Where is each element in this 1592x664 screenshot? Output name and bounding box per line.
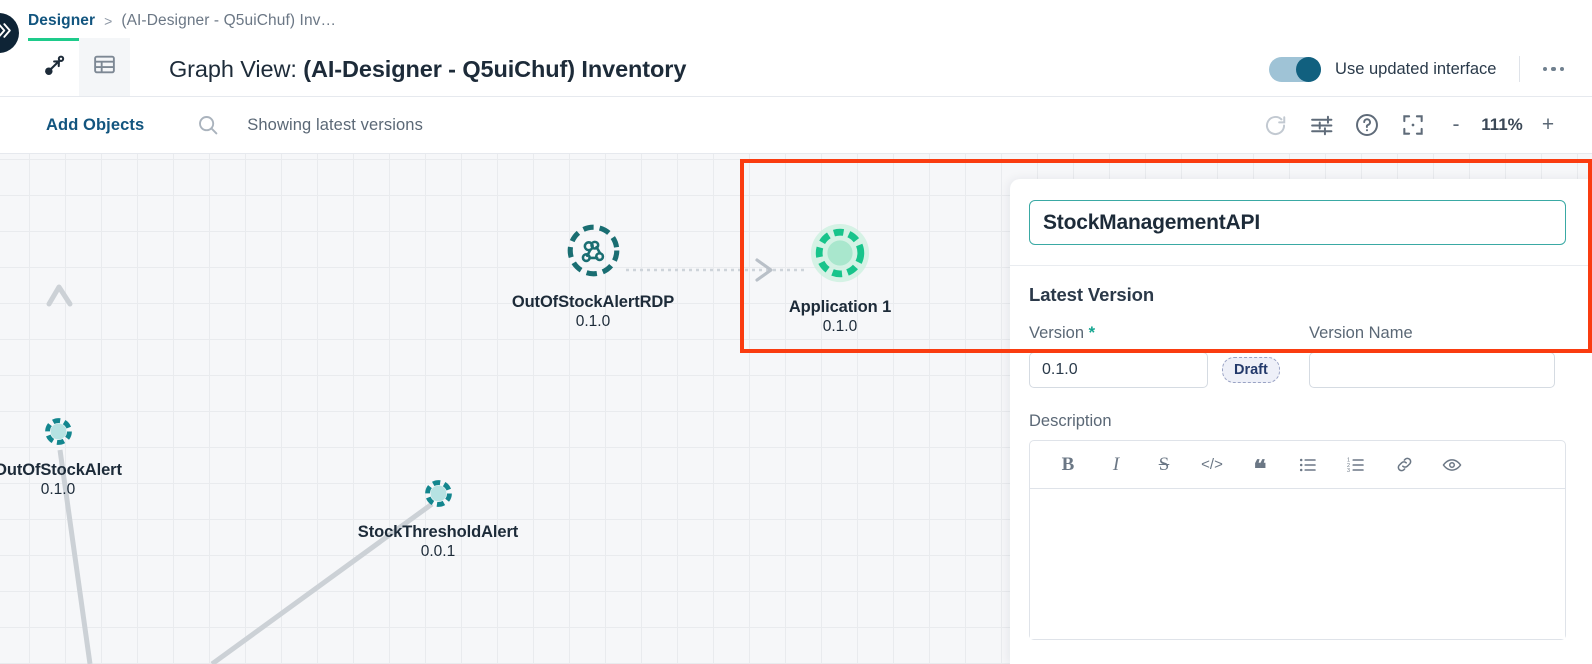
zoom-level-value: 111%	[1476, 115, 1528, 135]
showing-versions-label: Showing latest versions	[247, 116, 423, 135]
page-title: Graph View: (AI-Designer - Q5uiChuf) Inv…	[169, 56, 686, 96]
italic-icon[interactable]: I	[1092, 445, 1140, 485]
webhook-dashed-icon	[565, 222, 622, 284]
status-badge: Draft	[1222, 357, 1280, 383]
breadcrumb-root-link[interactable]: Designer	[28, 12, 95, 30]
page-title-prefix: Graph View:	[169, 56, 297, 82]
panel-header	[1010, 179, 1592, 266]
view-tabs	[28, 38, 130, 96]
node-version: 0.1.0	[41, 481, 75, 499]
tab-table-view[interactable]	[79, 38, 130, 96]
description-label: Description	[1029, 412, 1566, 431]
version-input[interactable]	[1029, 352, 1208, 388]
double-chevron-right-icon	[0, 21, 13, 45]
preview-eye-icon[interactable]	[1428, 445, 1476, 485]
application-node-icon	[809, 222, 871, 289]
canvas-toolbar: Add Objects Showing latest versions	[0, 97, 1592, 154]
node-version: 0.0.1	[421, 543, 455, 561]
use-updated-interface-toggle[interactable]	[1269, 57, 1321, 82]
zoom-out-button[interactable]: -	[1436, 107, 1476, 143]
link-icon[interactable]	[1380, 445, 1428, 485]
node-version: 0.1.0	[823, 318, 857, 336]
header-divider	[1519, 56, 1520, 82]
version-fields-row: Version * Draft Version Name	[1029, 324, 1566, 388]
use-updated-interface-label: Use updated interface	[1335, 60, 1496, 79]
panel-body: Latest Version Version * Draft Version N…	[1010, 266, 1592, 640]
version-input-row: Draft	[1029, 352, 1291, 388]
version-field-group: Version * Draft	[1029, 324, 1291, 388]
blockquote-icon[interactable]: ❝	[1236, 445, 1284, 485]
page-title-main: (AI-Designer - Q5uiChuf) Inventory	[303, 56, 686, 82]
description-editor-toolbar: B I S </> ❝ 1 2	[1030, 441, 1565, 489]
fit-to-screen-icon[interactable]	[1390, 107, 1436, 143]
version-label: Version *	[1029, 324, 1291, 343]
help-icon[interactable]	[1344, 107, 1390, 143]
svg-text:3: 3	[1347, 468, 1350, 474]
bold-icon[interactable]: B	[1044, 445, 1092, 485]
node-label: OutOfStockAlert	[0, 461, 122, 480]
graph-node-outofstockalert[interactable]: OutOfStockAlert 0.1.0	[0, 416, 120, 499]
search-icon[interactable]	[196, 113, 220, 137]
description-editor: B I S </> ❝ 1 2	[1029, 440, 1566, 640]
node-label: Application 1	[789, 298, 891, 317]
more-options-button[interactable]	[1541, 61, 1567, 78]
latest-version-heading: Latest Version	[1029, 284, 1566, 306]
alert-node-icon	[43, 416, 74, 452]
toolbar-right-controls: - 111% +	[1252, 107, 1592, 143]
app-header: Graph View: (AI-Designer - Q5uiChuf) Inv…	[0, 38, 1592, 97]
header-actions: Use updated interface	[1269, 56, 1592, 96]
breadcrumb-current[interactable]: (AI-Designer - Q5uiChuf) Inv…	[121, 12, 336, 30]
numbered-list-icon[interactable]: 1 2 3	[1332, 445, 1380, 485]
bullet-list-icon[interactable]	[1284, 445, 1332, 485]
node-label: StockThresholdAlert	[358, 523, 518, 542]
object-name-input[interactable]	[1029, 200, 1566, 245]
description-textarea[interactable]	[1030, 489, 1565, 639]
zoom-in-button[interactable]: +	[1528, 107, 1568, 143]
add-objects-button[interactable]: Add Objects	[46, 116, 144, 135]
version-name-field-group: Version Name	[1309, 324, 1555, 388]
breadcrumb-separator: >	[104, 13, 112, 29]
node-label: OutOfStockAlertRDP	[512, 293, 674, 312]
tab-graph-view[interactable]	[28, 38, 79, 96]
filter-settings-icon[interactable]	[1298, 107, 1344, 143]
refresh-icon[interactable]	[1252, 107, 1298, 143]
graph-node-stockthresholdalert[interactable]: StockThresholdAlert 0.0.1	[356, 478, 520, 561]
strikethrough-icon[interactable]: S	[1140, 445, 1188, 485]
breadcrumb: Designer > (AI-Designer - Q5uiChuf) Inv…	[28, 8, 336, 34]
code-icon[interactable]: </>	[1188, 445, 1236, 485]
version-name-input[interactable]	[1309, 352, 1555, 388]
graph-node-application1[interactable]: Application 1 0.1.0	[796, 222, 884, 336]
node-version: 0.1.0	[576, 313, 610, 331]
table-grid-icon	[92, 52, 117, 82]
app-root: Designer > (AI-Designer - Q5uiChuf) Inv…	[0, 0, 1592, 664]
version-name-label: Version Name	[1309, 324, 1555, 343]
graph-node-outofstockalertrdp[interactable]: OutOfStockAlertRDP 0.1.0	[544, 222, 642, 331]
alert-node-icon	[423, 478, 454, 514]
graph-node-icon	[41, 54, 66, 84]
object-details-panel: Latest Version Version * Draft Version N…	[1010, 179, 1592, 664]
required-asterisk: *	[1089, 324, 1095, 342]
